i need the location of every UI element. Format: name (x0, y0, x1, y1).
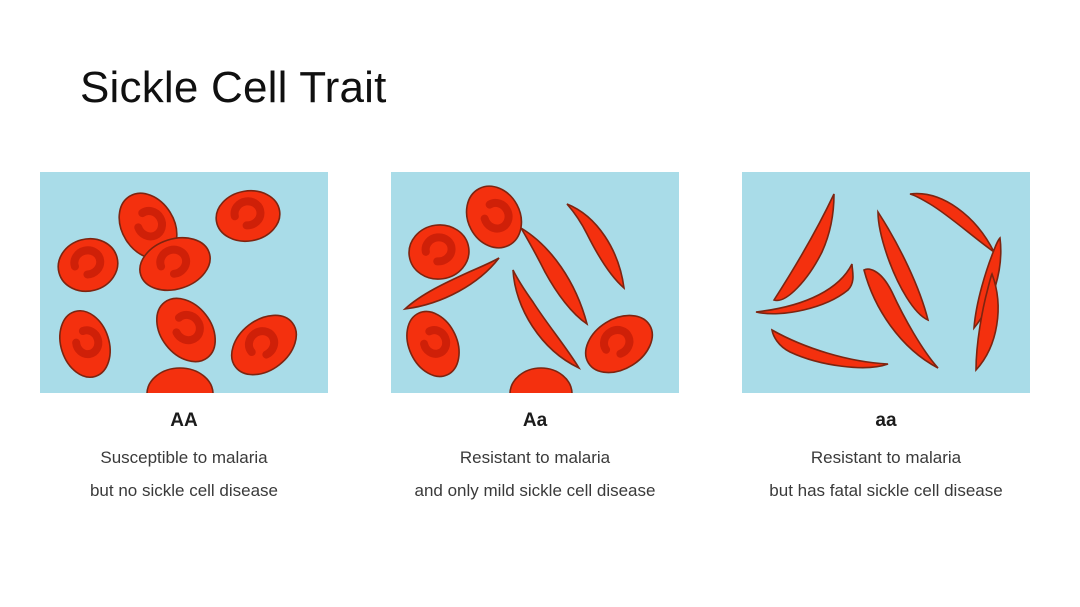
genotype-label: AA (170, 411, 197, 430)
red-blood-cell (220, 303, 308, 387)
genotype-panel-aa-heterozygous-carrier: Aa Resistant to malaria and only mild si… (391, 172, 679, 512)
red-blood-cell (212, 186, 284, 246)
cell-field-normal (40, 172, 328, 393)
red-blood-cell (145, 287, 227, 373)
genotype-label: aa (875, 411, 896, 430)
red-blood-cell (397, 303, 469, 385)
red-blood-cell (575, 304, 663, 385)
genotype-panel-aa-homozygous-normal: AA Susceptible to malaria but no sickle … (40, 172, 328, 512)
genotype-panel-aa-homozygous-sickle: aa Resistant to malaria but has fatal si… (742, 172, 1030, 512)
page-title: Sickle Cell Trait (80, 64, 387, 112)
cell-field-mixed (391, 172, 679, 393)
slide-canvas: Sickle Cell Trait (0, 0, 1080, 607)
caption-line-1: Resistant to malaria (370, 441, 700, 474)
sickle-cell (772, 330, 888, 368)
sickle-cell (774, 194, 834, 300)
red-blood-cell (510, 368, 572, 393)
genotype-label: Aa (523, 411, 547, 430)
cell-field-sickle (742, 172, 1030, 393)
sickle-cell (910, 194, 994, 252)
caption-line-1: Susceptible to malaria (19, 441, 349, 474)
sickle-cell (567, 204, 624, 288)
red-blood-cell (52, 304, 119, 384)
red-blood-cell (406, 221, 473, 283)
panel-caption: Susceptible to malaria but no sickle cel… (19, 441, 349, 507)
caption-line-1: Resistant to malaria (721, 441, 1051, 474)
caption-line-2: but no sickle cell disease (19, 474, 349, 507)
panel-caption: Resistant to malaria but has fatal sickl… (721, 441, 1051, 507)
diagram-panels: AA Susceptible to malaria but no sickle … (40, 172, 1030, 512)
caption-line-2: and only mild sickle cell disease (370, 474, 700, 507)
red-blood-cell (52, 232, 123, 298)
caption-line-2: but has fatal sickle cell disease (721, 474, 1051, 507)
red-blood-cell (147, 368, 213, 393)
panel-caption: Resistant to malaria and only mild sickl… (370, 441, 700, 507)
